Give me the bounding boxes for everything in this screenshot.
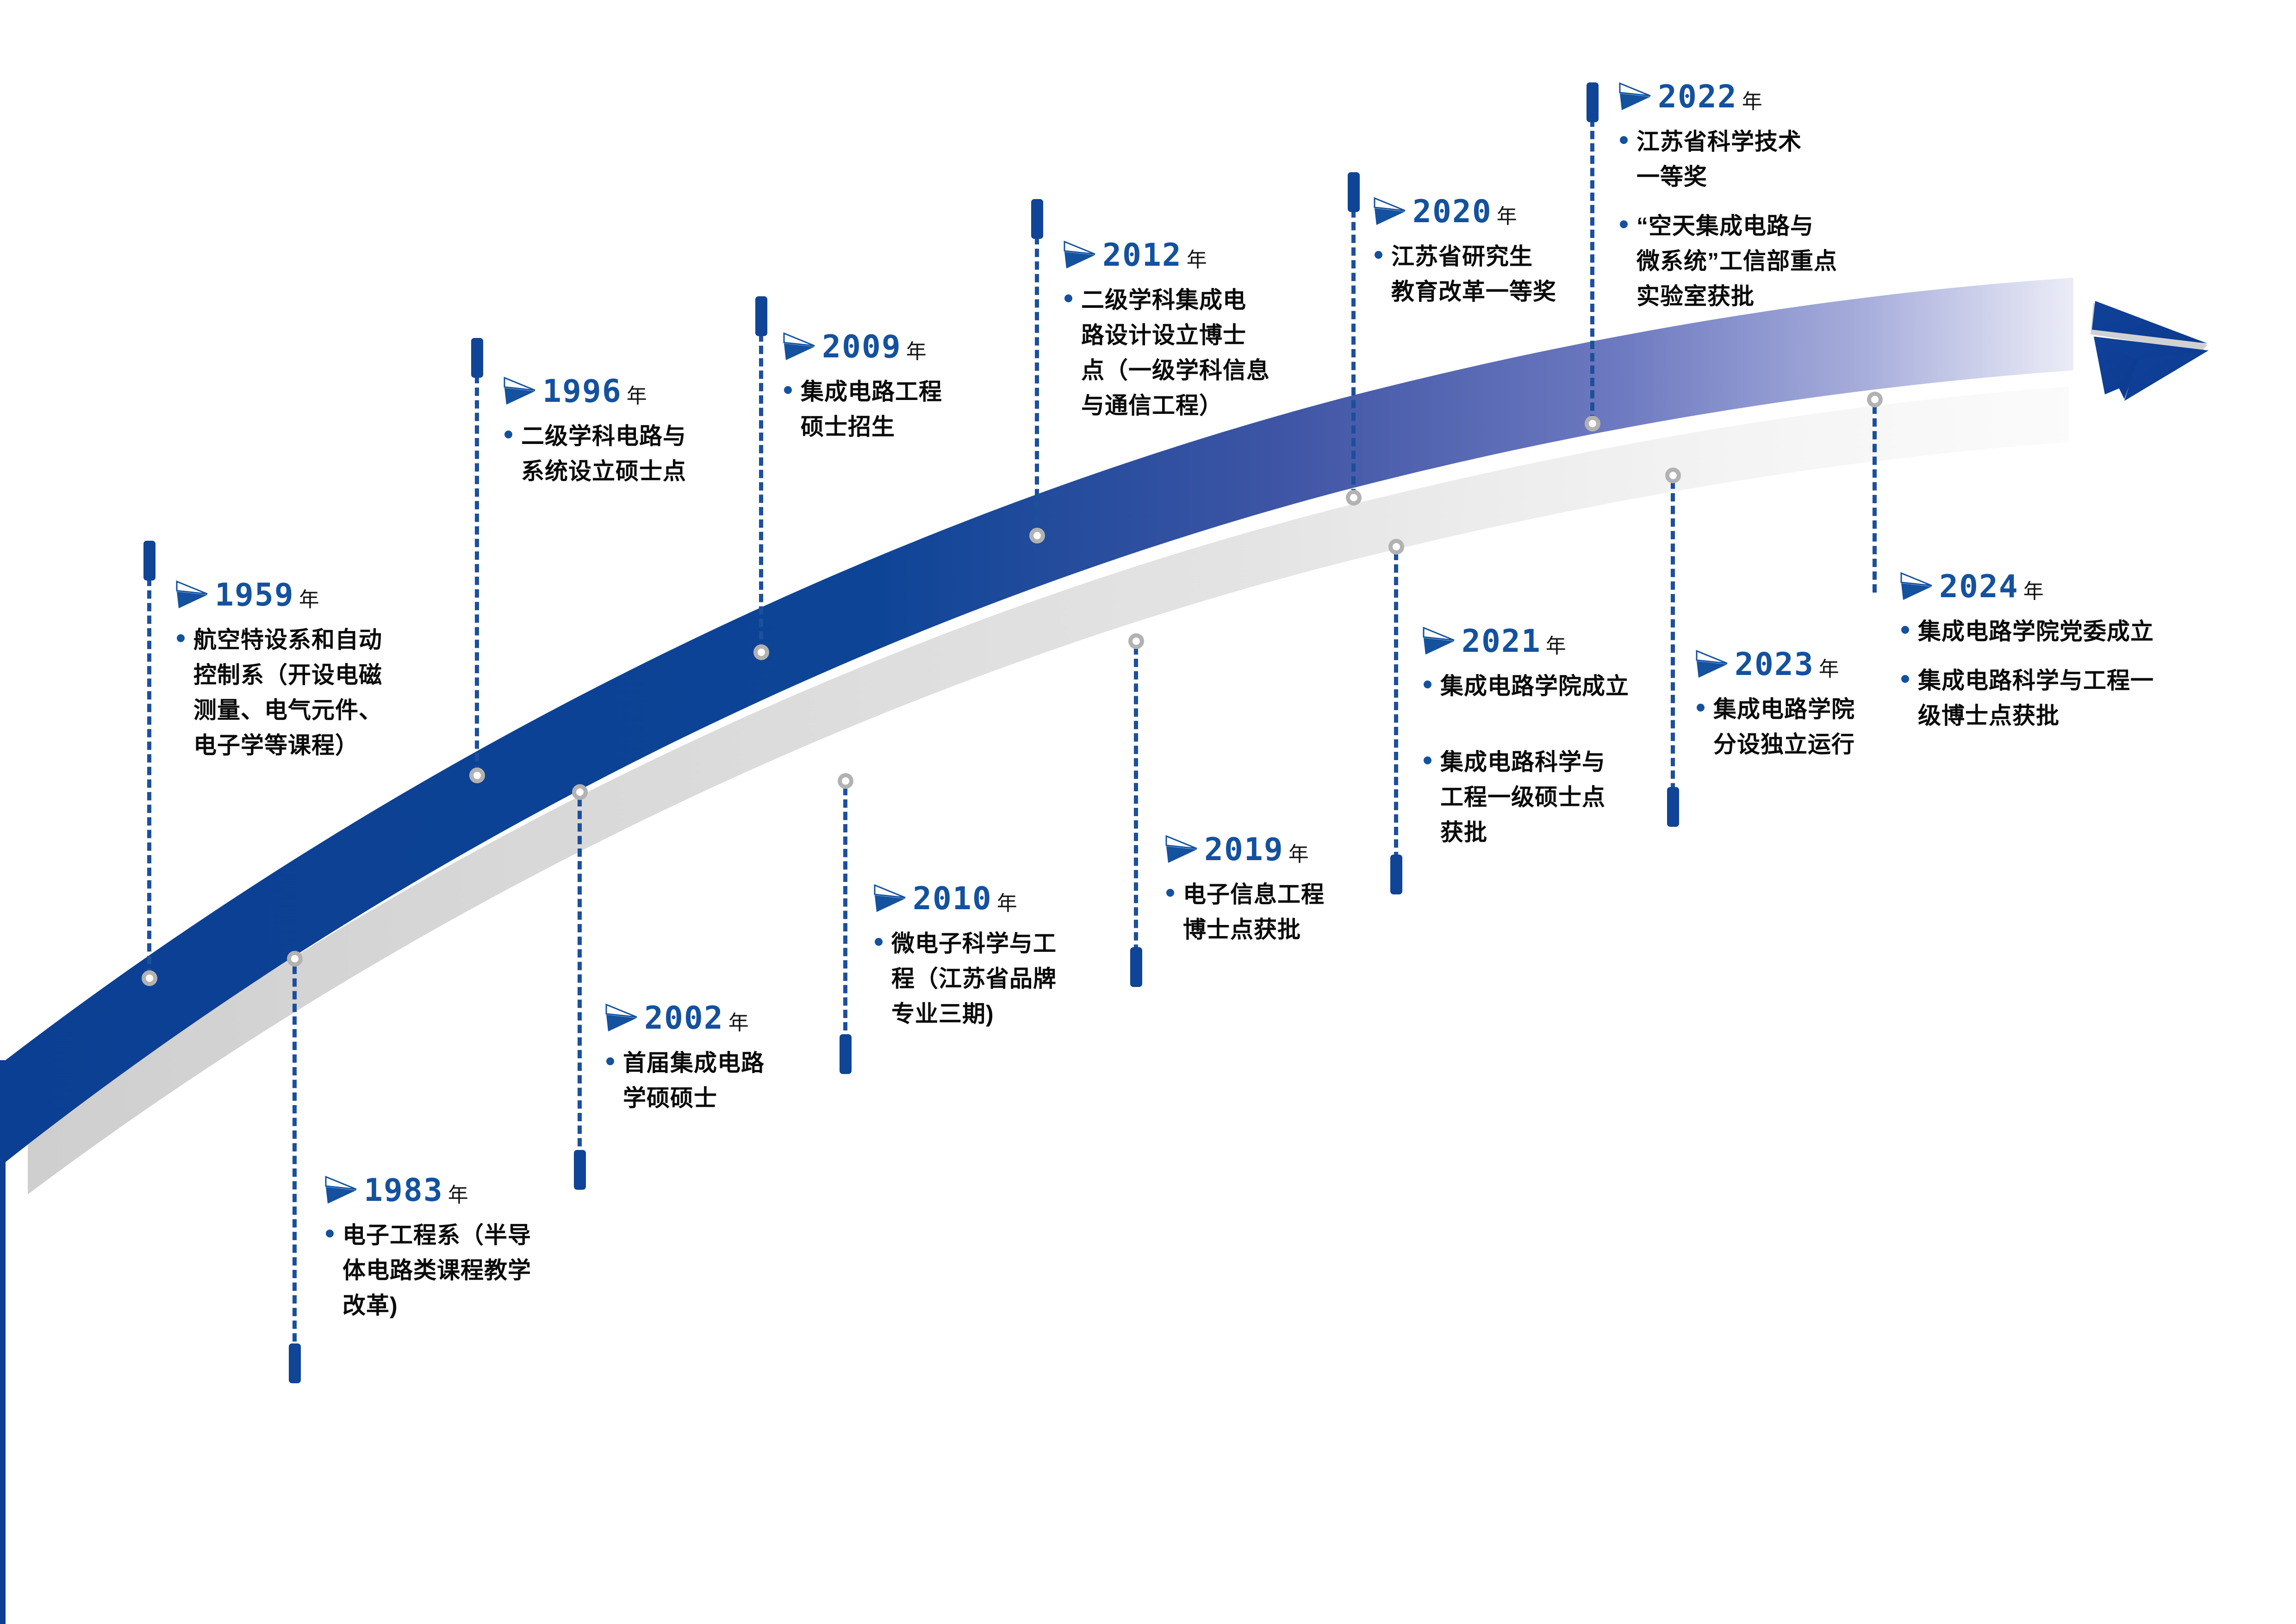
node-dot-2020 — [1346, 490, 1362, 506]
year-number-2023: 2023 — [1735, 649, 1814, 681]
year-number-2002: 2002 — [644, 1003, 724, 1034]
paper-plane-icon — [2091, 301, 2209, 401]
chevron-arrow-icon — [873, 884, 907, 913]
bullet-list-1983: 电子工程系（半导 体电路类课程教学 改革) — [324, 1218, 602, 1323]
chevron-arrow-icon — [503, 377, 537, 406]
list-item: “空天集成电路与 微系统”工信部重点 实验室获批 — [1618, 208, 1914, 314]
year-row-2010: 2010 年 — [873, 883, 1141, 915]
bullet-list-2012: 二级学科集成电 路设计设立博士 点（一级学科信息 与通信工程） — [1063, 282, 1340, 423]
list-item: 集成电路科学与 工程一级硕士点 获批 — [1422, 744, 1699, 850]
node-dot-2022 — [1585, 416, 1600, 431]
bullet-list-2021: 集成电路学院成立 集成电路科学与 工程一级硕士点 获批 — [1422, 668, 1699, 850]
timeline-entry-1959[interactable]: 1959 年 航空特设系和自动 控制系（开设电磁 测量、电气元件、 电子学等课程… — [175, 580, 453, 763]
year-suffix-2020: 年 — [1495, 206, 1517, 227]
year-suffix-1983: 年 — [446, 1185, 468, 1206]
year-row-2012: 2012 年 — [1063, 240, 1340, 271]
year-suffix-2012: 年 — [1185, 250, 1207, 270]
list-item: 集成电路学院成立 — [1422, 668, 1699, 704]
year-suffix-2021: 年 — [1544, 636, 1566, 656]
bullet-list-2010: 微电子科学与工 程（江苏省品牌 专业三期) — [873, 926, 1141, 1031]
node-dot-1983 — [287, 951, 303, 967]
stem-cap-1959 — [143, 541, 156, 581]
year-number-2022: 2022 — [1658, 81, 1737, 113]
stem-cap-2012 — [1031, 199, 1043, 239]
list-item: 电子工程系（半导 体电路类课程教学 改革) — [324, 1218, 602, 1323]
chevron-arrow-icon — [604, 1004, 639, 1032]
list-item: 电子信息工程 博士点获批 — [1164, 877, 1424, 947]
timeline-entry-2021[interactable]: 2021 年 集成电路学院成立 集成电路科学与 工程一级硕士点 获批 — [1422, 626, 1699, 850]
year-suffix-2024: 年 — [2022, 581, 2044, 602]
year-row-1996: 1996 年 — [503, 376, 762, 407]
bullet-list-2019: 电子信息工程 博士点获批 — [1164, 877, 1424, 947]
stem-2020 — [1351, 209, 1356, 497]
year-number-2019: 2019 — [1204, 834, 1284, 866]
bullet-list-1996: 二级学科电路与 系统设立硕士点 — [503, 418, 762, 489]
year-number-2024: 2024 — [1939, 571, 2019, 603]
year-row-2019: 2019 年 — [1164, 834, 1424, 866]
year-row-2002: 2002 年 — [604, 1003, 864, 1034]
year-suffix-1959: 年 — [297, 590, 319, 610]
timeline-entry-2019[interactable]: 2019 年 电子信息工程 博士点获批 — [1164, 834, 1424, 947]
chevron-arrow-icon — [1063, 241, 1097, 269]
year-number-1983: 1983 — [364, 1175, 443, 1206]
timeline-entry-2009[interactable]: 2009 年 集成电路工程 硕士招生 — [782, 331, 1041, 444]
year-row-2024: 2024 年 — [1899, 571, 2214, 603]
stem-cap-1996 — [471, 338, 483, 378]
stem-1996 — [475, 375, 479, 774]
stem-cap-2022 — [1587, 82, 1599, 122]
year-row-2009: 2009 年 — [782, 331, 1041, 363]
year-row-1983: 1983 年 — [324, 1175, 602, 1206]
bullet-list-2009: 集成电路工程 硕士招生 — [782, 374, 1041, 444]
chevron-arrow-icon — [1618, 82, 1652, 111]
bullet-list-1959: 航空特设系和自动 控制系（开设电磁 测量、电气元件、 电子学等课程） — [175, 622, 453, 763]
chevron-arrow-icon — [1899, 572, 1934, 601]
timeline-entry-2022[interactable]: 2022 年 江苏省科学技术 一等奖 “空天集成电路与 微系统”工信部重点 实验… — [1618, 81, 1914, 314]
node-dot-2002 — [572, 784, 588, 800]
year-suffix-2022: 年 — [1740, 92, 1762, 112]
chevron-arrow-icon — [324, 1176, 358, 1205]
node-dot-2019 — [1128, 633, 1144, 649]
stem-1959 — [147, 578, 151, 977]
year-number-2012: 2012 — [1102, 240, 1182, 271]
year-suffix-2010: 年 — [995, 893, 1017, 914]
timeline-entry-2024[interactable]: 2024 年 集成电路学院党委成立 集成电路科学与工程一 级博士点获批 — [1899, 571, 2214, 733]
timeline-entry-2002[interactable]: 2002 年 首届集成电路 学硕硕士 — [604, 1003, 864, 1116]
year-number-2009: 2009 — [822, 331, 902, 363]
timeline-entry-2012[interactable]: 2012 年 二级学科集成电 路设计设立博士 点（一级学科信息 与通信工程） — [1063, 240, 1340, 423]
stem-2024 — [1873, 406, 1877, 593]
list-item: 江苏省科学技术 一等奖 — [1618, 124, 1914, 194]
list-item: 二级学科集成电 路设计设立博士 点（一级学科信息 与通信工程） — [1063, 282, 1340, 423]
stem-cap-2020 — [1348, 172, 1360, 212]
list-item: 二级学科电路与 系统设立硕士点 — [503, 418, 762, 489]
node-dot-1996 — [469, 768, 485, 783]
list-item: 江苏省研究生 教育改革一等奖 — [1373, 239, 1641, 309]
timeline-entry-1983[interactable]: 1983 年 电子工程系（半导 体电路类课程教学 改革) — [324, 1175, 602, 1323]
year-suffix-1996: 年 — [625, 386, 647, 406]
chevron-arrow-icon — [175, 581, 209, 609]
node-dot-2024 — [1867, 392, 1883, 407]
year-suffix-2019: 年 — [1287, 844, 1309, 865]
timeline-infographic: 1959 年 航空特设系和自动 控制系（开设电磁 测量、电气元件、 电子学等课程… — [0, 0, 2296, 1624]
year-suffix-2009: 年 — [904, 342, 927, 362]
year-row-2021: 2021 年 — [1422, 626, 1699, 657]
node-dot-2012 — [1029, 528, 1045, 543]
node-dot-2010 — [838, 773, 853, 789]
year-number-1959: 1959 — [215, 580, 294, 611]
timeline-entry-1996[interactable]: 1996 年 二级学科电路与 系统设立硕士点 — [503, 376, 762, 489]
year-number-2021: 2021 — [1462, 626, 1541, 657]
bullet-list-2022: 江苏省科学技术 一等奖 “空天集成电路与 微系统”工信部重点 实验室获批 — [1618, 124, 1914, 314]
stem-2002 — [578, 798, 582, 1184]
year-row-2020: 2020 年 — [1373, 196, 1641, 228]
year-suffix-2002: 年 — [727, 1013, 749, 1033]
bullet-list-2020: 江苏省研究生 教育改革一等奖 — [1373, 239, 1641, 309]
year-row-2022: 2022 年 — [1618, 81, 1914, 113]
chevron-arrow-icon — [1373, 197, 1407, 226]
chevron-arrow-icon — [782, 332, 816, 361]
list-item: 集成电路学院党委成立 — [1899, 614, 2214, 649]
stem-1983 — [292, 966, 297, 1380]
stem-cap-1983 — [289, 1343, 301, 1383]
timeline-entry-2010[interactable]: 2010 年 微电子科学与工 程（江苏省品牌 专业三期) — [873, 883, 1141, 1031]
list-item: 集成电路科学与工程一 级博士点获批 — [1899, 663, 2214, 733]
bullet-list-2002: 首届集成电路 学硕硕士 — [604, 1045, 864, 1116]
year-number-2010: 2010 — [913, 883, 992, 915]
chevron-arrow-icon — [1164, 835, 1199, 864]
chevron-arrow-icon — [1695, 650, 1729, 679]
bullet-list-2024: 集成电路学院党委成立 集成电路科学与工程一 级博士点获批 — [1899, 614, 2214, 733]
year-number-2020: 2020 — [1412, 196, 1492, 228]
year-number-1996: 1996 — [542, 376, 622, 407]
node-dot-2009 — [753, 644, 769, 660]
node-dot-1959 — [142, 970, 157, 986]
list-item: 首届集成电路 学硕硕士 — [604, 1045, 864, 1116]
list-item: 集成电路工程 硕士招生 — [782, 374, 1041, 444]
list-item: 微电子科学与工 程（江苏省品牌 专业三期) — [873, 926, 1141, 1031]
year-row-1959: 1959 年 — [175, 580, 453, 611]
chevron-arrow-icon — [1422, 627, 1456, 656]
band-left-fill — [0, 1060, 6, 1624]
timeline-entry-2020[interactable]: 2020 年 江苏省研究生 教育改革一等奖 — [1373, 196, 1641, 309]
list-item: 航空特设系和自动 控制系（开设电磁 测量、电气元件、 电子学等课程） — [175, 622, 453, 763]
stem-cap-2009 — [755, 296, 767, 336]
band-shadow — [28, 387, 2069, 1194]
node-dot-2023 — [1665, 468, 1681, 483]
year-suffix-2023: 年 — [1817, 659, 1839, 680]
node-dot-2021 — [1388, 539, 1404, 555]
